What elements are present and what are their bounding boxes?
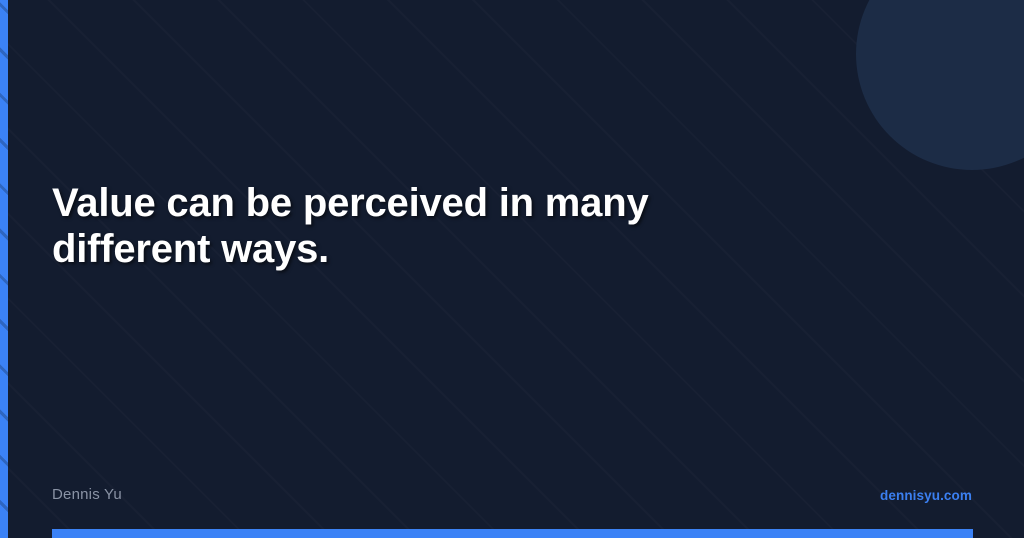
footer-website-link[interactable]: dennisyu.com: [880, 488, 972, 503]
circle-decoration: [856, 0, 1024, 170]
bottom-accent-bar: [52, 529, 973, 538]
presentation-slide: Value can be perceived in many different…: [0, 0, 1024, 538]
footer-author-name: Dennis Yu: [52, 486, 122, 503]
slide-headline: Value can be perceived in many different…: [52, 180, 812, 272]
left-accent-stripe: [0, 0, 8, 538]
